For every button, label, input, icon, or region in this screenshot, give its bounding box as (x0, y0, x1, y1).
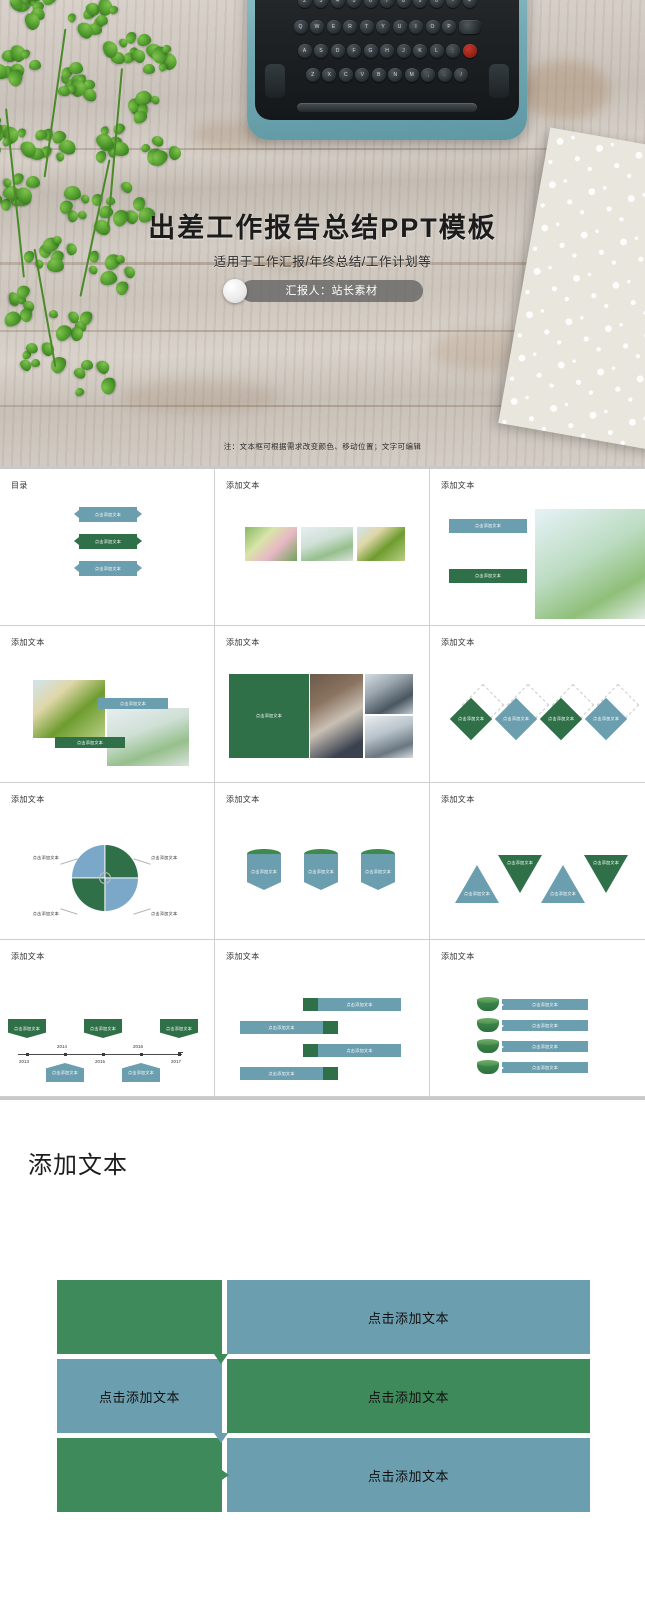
typewriter-key: Y (376, 20, 390, 34)
pie-label: 点击添加文本 (13, 909, 59, 918)
typewriter-key: 3 (314, 0, 328, 8)
typewriter-keys: 2 3 4 5 6 7 8 9 0 - + Q W E R T (255, 0, 519, 120)
ribbon-body: 点击添加文本 (361, 854, 395, 890)
text-bar[interactable]: 点击添加文本 (449, 569, 527, 583)
typewriter-key: V (355, 68, 369, 82)
zigzag-row: 点击添加文本 (57, 1438, 590, 1512)
leaf (69, 62, 83, 74)
pie-hub-icon (99, 872, 111, 884)
typewriter-key: Q (294, 20, 308, 34)
leaf (64, 185, 82, 201)
placeholder-label: 点击添加文本 (33, 911, 59, 917)
typewriter-key: - (446, 0, 460, 8)
bar-text: 点击添加文本 (318, 1044, 401, 1057)
typewriter-key: 7 (380, 0, 394, 8)
timeline-axis (18, 1054, 182, 1055)
connector-arrow-down-icon (214, 1354, 228, 1364)
placeholder-label: 点击添加文本 (308, 869, 334, 875)
slide-thumbnail-offset-bars[interactable]: 添加文本 点击添加文本 点击添加文本 点击添加文本 点击添加文本 (215, 940, 430, 1097)
typewriter-key: X (322, 68, 336, 82)
typewriter-key: B (372, 68, 386, 82)
triangle-node[interactable]: 点击添加文本 (455, 865, 499, 903)
leaf (143, 64, 155, 74)
toc-banner[interactable]: 点击添加文本 (74, 561, 142, 576)
typewriter-key: 0 (430, 0, 444, 8)
featured-slide-title: 添加文本 (28, 1145, 128, 1180)
pie-label: 点击添加文本 (13, 853, 59, 862)
typewriter-key: J (397, 44, 411, 58)
slide-title: 添加文本 (226, 951, 260, 962)
placeholder-label: 点击添加文本 (251, 869, 277, 875)
hero-text-block: 出差工作报告总结PPT模板 适用于工作汇报/年终总结/工作计划等 汇报人：站长素… (0, 214, 645, 302)
placeholder-label: 点击添加文本 (151, 911, 177, 917)
bar-accent (303, 1044, 318, 1057)
typewriter-key: T (360, 20, 374, 34)
pie-slice (105, 878, 138, 911)
leaf (94, 150, 107, 164)
typewriter-key: H (380, 44, 394, 58)
offset-bar-right[interactable]: 点击添加文本 (303, 1044, 401, 1057)
slide-thumbnail-timeline[interactable]: 添加文本20132014201520162017点击添加文本点击添加文本点击添加… (0, 940, 215, 1097)
slide-thumbnail-three-photos[interactable]: 添加文本 (215, 469, 430, 626)
connector-arrow-down-icon (214, 1433, 228, 1443)
typewriter-key: ; (446, 44, 460, 58)
timeline-card[interactable]: 点击添加文本 (160, 1019, 198, 1038)
cylinder-top (477, 1018, 499, 1024)
typewriter-shoulder (265, 64, 285, 98)
placeholder-label: 点击添加文本 (128, 1070, 154, 1076)
zigzag-left-block[interactable] (57, 1438, 222, 1512)
cylinder-top (477, 1039, 499, 1045)
timeline-year: 2015 (95, 1059, 105, 1064)
featured-slide: 添加文本 点击添加文本 点击添加文本 点击添加文本 点击添加文本 (0, 1097, 645, 1622)
cylinder-icon (477, 1060, 499, 1074)
placeholder-label: 点击添加文本 (33, 855, 59, 861)
zigzag-left-block[interactable]: 点击添加文本 (57, 1359, 222, 1433)
connector-arrow-right-icon (219, 1468, 229, 1482)
placeholder-label: 点击添加文本 (120, 701, 146, 707)
zigzag-right-label: 点击添加文本 (368, 1466, 449, 1485)
typewriter-key-red (463, 44, 477, 58)
bar-text: 点击添加文本 (240, 1021, 323, 1034)
arrow-right-icon (499, 1065, 504, 1071)
placeholder-label: 点击添加文本 (268, 1071, 294, 1077)
thumb-photo (310, 674, 363, 758)
bar-accent (323, 1021, 338, 1034)
placeholder-label: 点击添加文本 (166, 1026, 192, 1032)
wood-stain (520, 60, 610, 120)
typewriter-key: 6 (364, 0, 378, 8)
placeholder-label: 点击添加文本 (90, 1026, 116, 1032)
placeholder-label: 点击添加文本 (77, 740, 103, 746)
slide-title: 添加文本 (226, 480, 260, 491)
placeholder-label: 点击添加文本 (346, 1048, 372, 1054)
slide-thumbnail-bars-photo[interactable]: 添加文本 点击添加文本 点击添加文本 (430, 469, 645, 626)
bar-accent (323, 1067, 338, 1080)
timeline-year: 2013 (19, 1059, 29, 1064)
thumb-photo (365, 716, 413, 758)
key-row: 2 3 4 5 6 7 8 9 0 - + (255, 0, 519, 8)
timeline-node (140, 1053, 143, 1056)
key-row: A S D F G H J K L ; (255, 44, 519, 58)
placeholder-label: 点击添加文本 (593, 860, 619, 866)
typewriter-key: 2 (298, 0, 312, 8)
banner-right-point (137, 510, 142, 518)
slide-title: 添加文本 (11, 637, 45, 648)
slide-thumbnail-photo-overlay[interactable]: 添加文本 点击添加文本 点击添加文本 (0, 626, 215, 783)
page-title: 出差工作报告总结PPT模板 (0, 214, 645, 244)
key-row: Z X C V B N M , . / (255, 68, 519, 82)
leaf (151, 134, 166, 148)
leaf (48, 355, 69, 376)
typewriter-key: 5 (347, 0, 361, 8)
placeholder-label: 点击添加文本 (268, 1025, 294, 1031)
cylinder-top (477, 997, 499, 1003)
slide-title: 添加文本 (441, 951, 475, 962)
placeholder-label: 点击添加文本 (151, 855, 177, 861)
pie-slice (105, 845, 138, 878)
slide-title: 添加文本 (441, 480, 475, 491)
thumb-photo (535, 509, 645, 619)
ribbon-shape[interactable]: 点击添加文本 (247, 849, 281, 895)
pie-label: 点击添加文本 (151, 853, 197, 862)
slide-thumbnail-diamonds[interactable]: 添加文本点击添加文本点击添加文本点击添加文本点击添加文本 (430, 626, 645, 783)
ribbon-shape[interactable]: 点击添加文本 (361, 849, 395, 895)
typewriter-key: D (331, 44, 345, 58)
typewriter-key: 4 (331, 0, 345, 8)
cylinder-icon (477, 1039, 499, 1053)
slide-title: 添加文本 (226, 637, 260, 648)
leaf (1, 199, 12, 211)
placeholder-label: 点击添加文本 (52, 1070, 78, 1076)
typewriter-key: M (405, 68, 419, 82)
text-bar[interactable]: 点击添加文本 (502, 1041, 588, 1052)
presenter-badge: 汇报人：站长素材 (223, 280, 423, 302)
placeholder-label: 点击添加文本 (475, 573, 501, 579)
arrow-right-icon (499, 1002, 504, 1008)
pie-slice (72, 878, 105, 911)
cylinder-top (477, 1060, 499, 1066)
typewriter-key: W (310, 20, 324, 34)
slide-thumbnail-block-photos[interactable]: 添加文本 点击添加文本 (215, 626, 430, 783)
typewriter-key: K (413, 44, 427, 58)
zigzag-row: 点击添加文本 点击添加文本 (57, 1359, 590, 1433)
leaf (26, 176, 40, 188)
zigzag-right-label: 点击添加文本 (368, 1308, 449, 1327)
slide-title: 添加文本 (441, 637, 475, 648)
placeholder-label: 点击添加文本 (532, 1065, 558, 1071)
typewriter-key: Z (306, 68, 320, 82)
thumb-photo (301, 527, 353, 561)
placeholder-label: 点击添加文本 (593, 716, 619, 722)
thumb-photo (33, 680, 105, 738)
typewriter-key: I (409, 20, 423, 34)
typewriter-key: F (347, 44, 361, 58)
hero-slide: 2 3 4 5 6 7 8 9 0 - + Q W E R T (0, 0, 645, 466)
hero-note: 注：文本框可根据需求改变颜色、移动位置；文字可编辑 (0, 441, 645, 452)
leaf (67, 12, 77, 23)
slide-thumbnail-cylinders[interactable]: 添加文本 点击添加文本 点击添加文本 点击添加文本 点击添加文本 (430, 940, 645, 1097)
leaf (0, 142, 1, 155)
leaf (0, 116, 1, 125)
toc-banner[interactable]: 点击添加文本 (74, 507, 142, 522)
arrow-right-icon (499, 1044, 504, 1050)
leaf (150, 94, 162, 106)
zigzag-diagram: 点击添加文本 点击添加文本 点击添加文本 点击添加文本 (57, 1280, 590, 1517)
typewriter-key: / (454, 68, 468, 82)
zigzag-left-block[interactable] (57, 1280, 222, 1354)
pie-label: 点击添加文本 (151, 909, 197, 918)
placeholder-label: 点击添加文本 (464, 891, 490, 897)
zigzag-row: 点击添加文本 (57, 1280, 590, 1354)
presenter-dot-icon (223, 279, 247, 303)
slide-title: 添加文本 (11, 794, 45, 805)
placeholder-label: 点击添加文本 (532, 1044, 558, 1050)
offset-bar-left[interactable]: 点击添加文本 (240, 1021, 338, 1034)
leaf (48, 309, 58, 318)
banner-right-point (137, 564, 142, 572)
typewriter-spacebar (297, 103, 477, 112)
leaf (28, 60, 40, 71)
placeholder-label: 点击添加文本 (14, 1026, 40, 1032)
leaf (101, 126, 109, 135)
typewriter-key: S (314, 44, 328, 58)
slide-title: 目录 (11, 480, 28, 491)
hero-subtitle: 适用于工作汇报/年终总结/工作计划等 (0, 251, 645, 270)
timeline-card[interactable]: 点击添加文本 (8, 1019, 46, 1038)
leaf (94, 358, 112, 376)
placeholder-label: 点击添加文本 (95, 539, 121, 545)
typewriter-key: A (298, 44, 312, 58)
leaf (99, 376, 117, 396)
slide-thumbnail-ribbons[interactable]: 添加文本 点击添加文本 点击添加文本 点击添加文本 (215, 783, 430, 940)
banner-right-point (137, 537, 142, 545)
placeholder-label: 点击添加文本 (503, 716, 529, 722)
triangle-node[interactable]: 点击添加文本 (498, 855, 542, 893)
typewriter-key: P (442, 20, 456, 34)
triangle-node[interactable]: 点击添加文本 (584, 855, 628, 893)
toc-banner[interactable]: 点击添加文本 (74, 534, 142, 549)
typewriter-key: E (327, 20, 341, 34)
leaf (52, 323, 74, 345)
offset-bar-left[interactable]: 点击添加文本 (240, 1067, 338, 1080)
typewriter-key: . (438, 68, 452, 82)
typewriter-key: R (343, 20, 357, 34)
zigzag-right-block[interactable]: 点击添加文本 (227, 1438, 590, 1512)
typewriter-key: O (426, 20, 440, 34)
slide-thumbnail-triangles[interactable]: 添加文本点击添加文本点击添加文本点击添加文本点击添加文本 (430, 783, 645, 940)
typewriter-key: G (364, 44, 378, 58)
thumb-photo (357, 527, 405, 561)
leaf (111, 121, 126, 136)
bar-text: 点击添加文本 (240, 1067, 323, 1080)
zigzag-right-label: 点击添加文本 (368, 1387, 449, 1406)
timeline-node (64, 1053, 67, 1056)
plant-foliage (0, 0, 244, 408)
typewriter: 2 3 4 5 6 7 8 9 0 - + Q W E R T (247, 0, 527, 140)
ribbon-body: 点击添加文本 (247, 854, 281, 890)
zigzag-left-label: 点击添加文本 (99, 1387, 180, 1406)
slide-title: 添加文本 (226, 794, 260, 805)
cylinder-icon (477, 1018, 499, 1032)
placeholder-label: 点击添加文本 (550, 891, 576, 897)
placeholder-label: 点击添加文本 (507, 860, 533, 866)
timeline-card[interactable]: 点击添加文本 (122, 1063, 160, 1082)
key-row: Q W E R T Y U I O P (255, 20, 519, 34)
bar-text: 点击添加文本 (318, 998, 401, 1011)
typewriter-key: 9 (413, 0, 427, 8)
text-bar[interactable]: 点击添加文本 (55, 737, 125, 748)
placeholder-label: 点击添加文本 (532, 1002, 558, 1008)
typewriter-key: N (388, 68, 402, 82)
text-block[interactable]: 点击添加文本 (229, 674, 309, 758)
placeholder-label: 点击添加文本 (365, 869, 391, 875)
slide-thumbnail-toc[interactable]: 目录 点击添加文本 点击添加文本 点击添加文本 (0, 469, 215, 626)
text-bar[interactable]: 点击添加文本 (98, 698, 168, 709)
offset-bar-right[interactable]: 点击添加文本 (303, 998, 401, 1011)
bar-accent (303, 998, 318, 1011)
leaf (168, 145, 181, 160)
text-bar[interactable]: 点击添加文本 (502, 999, 588, 1010)
timeline-node (102, 1053, 105, 1056)
placeholder-label: 点击添加文本 (548, 716, 574, 722)
typewriter-key (459, 20, 481, 34)
text-bar[interactable]: 点击添加文本 (502, 1020, 588, 1031)
typewriter-key: U (393, 20, 407, 34)
timeline-year: 2016 (133, 1044, 143, 1049)
leaf (119, 179, 134, 194)
leaf (79, 193, 90, 205)
zigzag-right-block[interactable]: 点击添加文本 (227, 1280, 590, 1354)
thumb-photo (245, 527, 297, 561)
timeline-year: 2017 (171, 1059, 181, 1064)
typewriter-key: , (421, 68, 435, 82)
slide-title: 添加文本 (11, 951, 45, 962)
placeholder-label: 点击添加文本 (256, 713, 282, 719)
ribbon-body: 点击添加文本 (304, 854, 338, 890)
timeline-node (178, 1053, 181, 1056)
typewriter-key: L (430, 44, 444, 58)
placeholder-label: 点击添加文本 (95, 566, 121, 572)
placeholder-label: 点击添加文本 (458, 716, 484, 722)
typewriter-key: + (463, 0, 477, 8)
typewriter-shoulder (489, 64, 509, 98)
timeline-card[interactable]: 点击添加文本 (46, 1063, 84, 1082)
cylinder-icon (477, 997, 499, 1011)
placeholder-label: 点击添加文本 (346, 1002, 372, 1008)
placeholder-label: 点击添加文本 (95, 512, 121, 518)
slide-thumbnail-grid: 目录 点击添加文本 点击添加文本 点击添加文本 添加文本 添加文本 点击添加文本 (0, 466, 645, 1097)
placeholder-label: 点击添加文本 (532, 1023, 558, 1029)
leaf (74, 387, 85, 397)
timeline-year: 2014 (57, 1044, 67, 1049)
zigzag-right-block[interactable]: 点击添加文本 (227, 1359, 590, 1433)
text-bar[interactable]: 点击添加文本 (449, 519, 527, 533)
presenter-label: 汇报人：站长素材 (241, 280, 423, 302)
placeholder-label: 点击添加文本 (475, 523, 501, 529)
typewriter-key: C (339, 68, 353, 82)
timeline-card[interactable]: 点击添加文本 (84, 1019, 122, 1038)
arrow-right-icon (499, 1023, 504, 1029)
slide-thumbnail-pie[interactable]: 添加文本 点击添加文本 点击添加文本 点击添加文本 点击添加文本 (0, 783, 215, 940)
typewriter-key: 8 (397, 0, 411, 8)
ribbon-shape[interactable]: 点击添加文本 (304, 849, 338, 895)
thumb-photo (365, 674, 413, 714)
timeline-node (26, 1053, 29, 1056)
triangle-node[interactable]: 点击添加文本 (541, 865, 585, 903)
slide-title: 添加文本 (441, 794, 475, 805)
typewriter-panel: 2 3 4 5 6 7 8 9 0 - + Q W E R T (255, 0, 519, 120)
text-bar[interactable]: 点击添加文本 (502, 1062, 588, 1073)
